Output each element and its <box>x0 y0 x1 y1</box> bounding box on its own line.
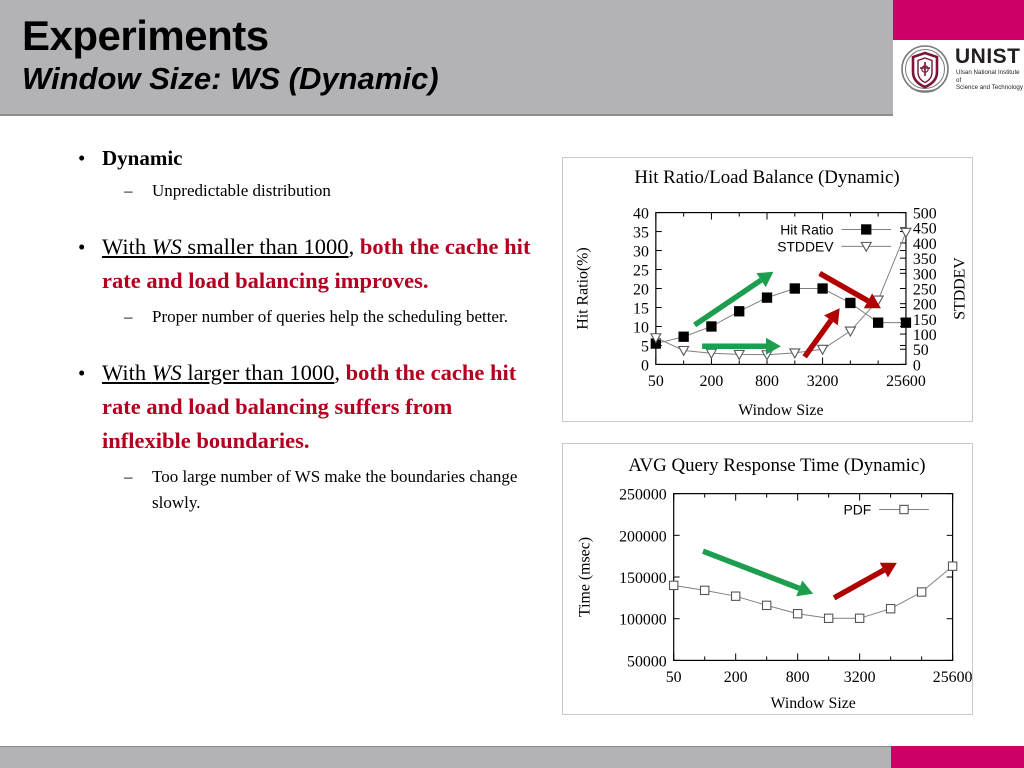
svg-text:3200: 3200 <box>807 373 839 390</box>
svg-text:200: 200 <box>700 373 724 390</box>
response-time-falling-arrow <box>703 551 813 596</box>
svg-text:800: 800 <box>755 373 779 390</box>
svg-text:500: 500 <box>913 206 937 223</box>
svg-text:Window Size: Window Size <box>770 695 855 712</box>
brand-tagline-line2: Science and Technology <box>956 84 1023 91</box>
svg-text:0: 0 <box>641 357 649 374</box>
bullet-ws-smaller: • With WS smaller than 1000, both the ca… <box>78 230 533 298</box>
svg-text:200: 200 <box>724 669 748 686</box>
sub-bullet-unpredictable: – Unpredictable distribution <box>78 178 533 204</box>
svg-text:800: 800 <box>786 669 810 686</box>
brand-tagline-line1: Ulsan National Institute of <box>956 69 1020 84</box>
series-pdf <box>670 562 957 622</box>
svg-text:Time (msec): Time (msec) <box>576 537 593 617</box>
svg-text:50: 50 <box>666 669 682 686</box>
ws-smaller-lead: With WS smaller than 1000 <box>102 234 349 259</box>
svg-text:20: 20 <box>633 281 649 298</box>
svg-text:100: 100 <box>913 327 937 344</box>
svg-text:300: 300 <box>913 266 937 283</box>
ws-larger-lead: With WS larger than 1000 <box>102 360 334 385</box>
svg-text:400: 400 <box>913 236 937 253</box>
slide-footer-bar <box>0 746 1024 768</box>
sub-bullet-unpredictable-text: Unpredictable distribution <box>152 178 331 204</box>
bullet-glyph: • <box>78 230 102 264</box>
sub-bullet-too-large-text: Too large number of WS make the boundari… <box>152 464 533 516</box>
svg-text:Hit Ratio: Hit Ratio <box>780 221 833 237</box>
svg-text:200: 200 <box>913 297 937 314</box>
svg-text:3200: 3200 <box>844 669 876 686</box>
svg-text:350: 350 <box>913 251 937 268</box>
svg-text:Window Size: Window Size <box>738 402 823 419</box>
chart-hit-ratio-load-balance: Hit Ratio/Load Balance (Dynamic)05101520… <box>562 157 973 422</box>
svg-text:Hit Ratio(%): Hit Ratio(%) <box>574 247 591 329</box>
svg-text:STDDEV: STDDEV <box>952 257 969 320</box>
sub-bullet-proper-queries-text: Proper number of queries help the schedu… <box>152 304 508 330</box>
svg-text:35: 35 <box>633 225 649 242</box>
chart-response-time-svg: AVG Query Response Time (Dynamic)5000010… <box>563 444 972 714</box>
svg-text:100000: 100000 <box>619 612 667 629</box>
university-seal-icon <box>899 44 951 96</box>
bullet-ws-smaller-text: With WS smaller than 1000, both the cach… <box>102 230 533 298</box>
response-time-rising-arrow <box>834 563 897 598</box>
svg-text:40: 40 <box>633 206 649 223</box>
svg-text:450: 450 <box>913 221 937 238</box>
bullet-dynamic: • Dynamic <box>78 144 533 172</box>
slide-footer-accent <box>891 746 1024 768</box>
bullet-ws-larger-text: With WS larger than 1000, both the cache… <box>102 356 533 458</box>
svg-text:10: 10 <box>633 319 649 336</box>
svg-text:30: 30 <box>633 244 649 261</box>
bullet-ws-larger: • With WS larger than 1000, both the cac… <box>78 356 533 458</box>
brand-wordmark: UNIST <box>955 46 1021 68</box>
svg-text:Hit Ratio/Load Balance (Dynami: Hit Ratio/Load Balance (Dynamic) <box>634 167 899 188</box>
bullet-glyph: • <box>78 144 102 172</box>
brand-tagline: Ulsan National Institute of Science and … <box>956 69 1024 92</box>
bullet-glyph: • <box>78 356 102 390</box>
chart-hit-ratio-svg: Hit Ratio/Load Balance (Dynamic)05101520… <box>563 158 972 421</box>
svg-text:150000: 150000 <box>619 570 667 587</box>
svg-text:0: 0 <box>913 357 921 374</box>
series-hit-ratio <box>651 283 911 348</box>
dash-glyph: – <box>124 464 152 490</box>
unist-logo: UNIST Ulsan National Institute of Scienc… <box>893 42 1024 100</box>
svg-text:250000: 250000 <box>619 487 667 504</box>
svg-text:50: 50 <box>913 342 929 359</box>
hit-ratio-rising-arrow <box>695 272 774 325</box>
bullet-dynamic-label: Dynamic <box>102 144 183 172</box>
slide-header-band: Experiments Window Size: WS (Dynamic) <box>0 0 893 116</box>
sub-bullet-proper-queries: – Proper number of queries help the sche… <box>78 304 533 330</box>
page-title: Experiments <box>22 14 269 58</box>
page-subtitle: Window Size: WS (Dynamic) <box>22 62 439 96</box>
svg-text:STDDEV: STDDEV <box>777 238 834 254</box>
svg-text:PDF: PDF <box>843 501 871 517</box>
svg-text:15: 15 <box>633 300 649 317</box>
svg-text:50: 50 <box>648 373 664 390</box>
svg-text:25600: 25600 <box>933 669 972 686</box>
svg-text:50000: 50000 <box>627 653 667 670</box>
chart-avg-query-response-time: AVG Query Response Time (Dynamic)5000010… <box>562 443 973 715</box>
brand-accent-block <box>893 0 1024 40</box>
svg-text:250: 250 <box>913 281 937 298</box>
svg-text:25: 25 <box>633 262 649 279</box>
dash-glyph: – <box>124 178 152 204</box>
svg-text:25600: 25600 <box>886 373 926 390</box>
svg-text:AVG Query Response Time (Dynam: AVG Query Response Time (Dynamic) <box>628 455 925 476</box>
svg-text:5: 5 <box>641 338 649 355</box>
dash-glyph: – <box>124 304 152 330</box>
svg-text:200000: 200000 <box>619 528 667 545</box>
slide-body: • Dynamic – Unpredictable distribution •… <box>78 144 533 516</box>
svg-text:150: 150 <box>913 312 937 329</box>
sub-bullet-too-large: – Too large number of WS make the bounda… <box>78 464 533 516</box>
